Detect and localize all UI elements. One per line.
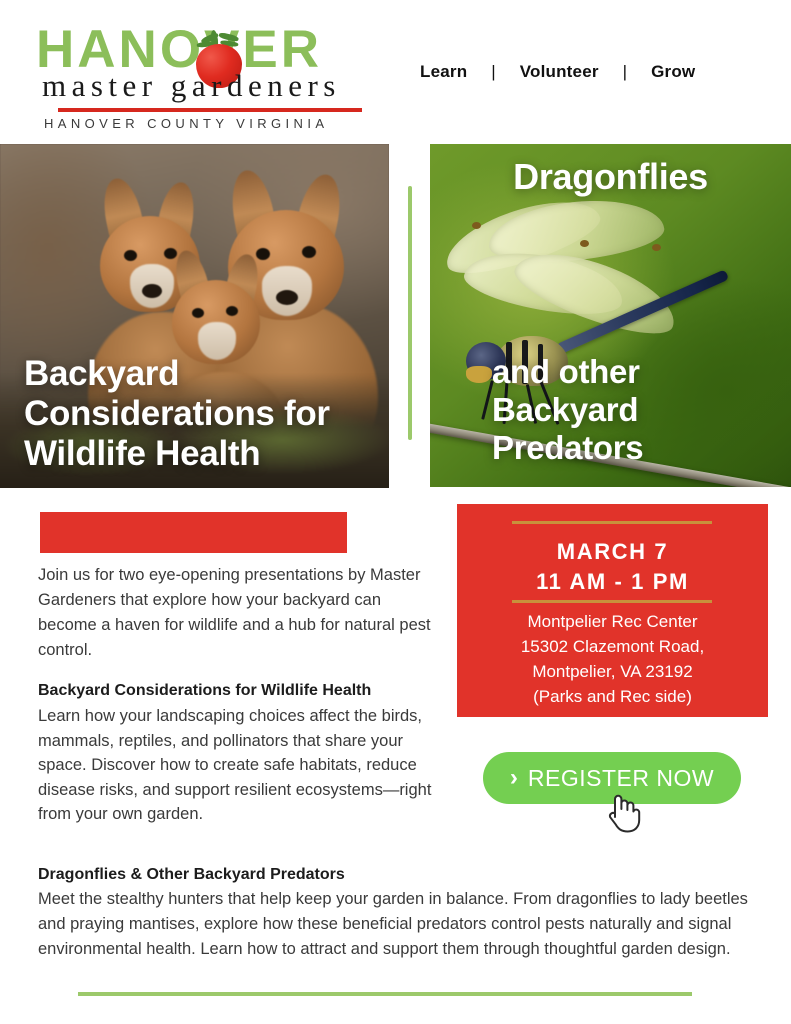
section-two-title: Dragonflies & Other Backyard Predators bbox=[38, 864, 758, 886]
hero-right-title-bottom: and other Backyard Predators bbox=[492, 353, 787, 467]
section-one-title: Backyard Considerations for Wildlife Hea… bbox=[38, 680, 438, 702]
nav-item-volunteer[interactable]: Volunteer bbox=[520, 62, 599, 82]
event-rule-top bbox=[512, 521, 712, 524]
flyer-page: HANOVER master gardeners HANOVER COUNTY … bbox=[0, 0, 791, 1024]
section-two-body: Meet the stealthy hunters that help keep… bbox=[38, 887, 768, 962]
logo-locality: HANOVER COUNTY VIRGINIA bbox=[44, 116, 328, 131]
hero-left-title: Backyard Considerations for Wildlife Hea… bbox=[24, 354, 374, 474]
hanover-master-gardeners-logo[interactable]: HANOVER master gardeners HANOVER COUNTY … bbox=[36, 22, 366, 130]
primary-navigation: Learn | Volunteer | Grow bbox=[420, 62, 695, 82]
nav-item-grow[interactable]: Grow bbox=[651, 62, 695, 82]
event-details-card: MARCH 7 11 AM - 1 PM Montpelier Rec Cent… bbox=[457, 504, 768, 717]
hero-image-dragonflies: Dragonflies and other Backyard Predators bbox=[430, 144, 791, 487]
event-datetime: MARCH 7 11 AM - 1 PM bbox=[457, 537, 768, 597]
event-location: Montpelier Rec Center 15302 Clazemont Ro… bbox=[457, 609, 768, 709]
chevron-right-icon: › bbox=[510, 766, 518, 790]
event-time-text: 11 AM - 1 PM bbox=[457, 567, 768, 597]
hero-image-wildlife: Backyard Considerations for Wildlife Hea… bbox=[0, 144, 389, 488]
event-street: 15302 Clazemont Road, bbox=[457, 634, 768, 659]
register-now-button[interactable]: › REGISTER NOW bbox=[483, 752, 741, 804]
logo-underline-rule bbox=[58, 108, 362, 112]
hero-right-title-top: Dragonflies bbox=[430, 156, 791, 198]
event-rule-bottom bbox=[512, 600, 712, 603]
event-date-text: MARCH 7 bbox=[457, 537, 768, 567]
nav-separator: | bbox=[491, 62, 495, 82]
event-city-state-zip: Montpelier, VA 23192 bbox=[457, 659, 768, 684]
logo-tagline: master gardeners bbox=[42, 68, 341, 104]
learn-badge-label: Learn bbox=[43, 9, 101, 33]
section-one-body: Learn how your landscaping choices affec… bbox=[38, 704, 434, 827]
nav-separator: | bbox=[623, 62, 627, 82]
intro-paragraph: Join us for two eye-opening presentation… bbox=[38, 563, 434, 663]
site-header: HANOVER master gardeners HANOVER COUNTY … bbox=[0, 0, 791, 144]
footer-divider-rule bbox=[78, 992, 692, 996]
hero-vertical-divider bbox=[408, 186, 412, 440]
learn-badge bbox=[40, 512, 347, 553]
nav-item-learn[interactable]: Learn bbox=[420, 62, 467, 82]
event-venue: Montpelier Rec Center bbox=[457, 609, 768, 634]
event-note: (Parks and Rec side) bbox=[457, 684, 768, 709]
register-now-label: REGISTER NOW bbox=[528, 767, 714, 790]
